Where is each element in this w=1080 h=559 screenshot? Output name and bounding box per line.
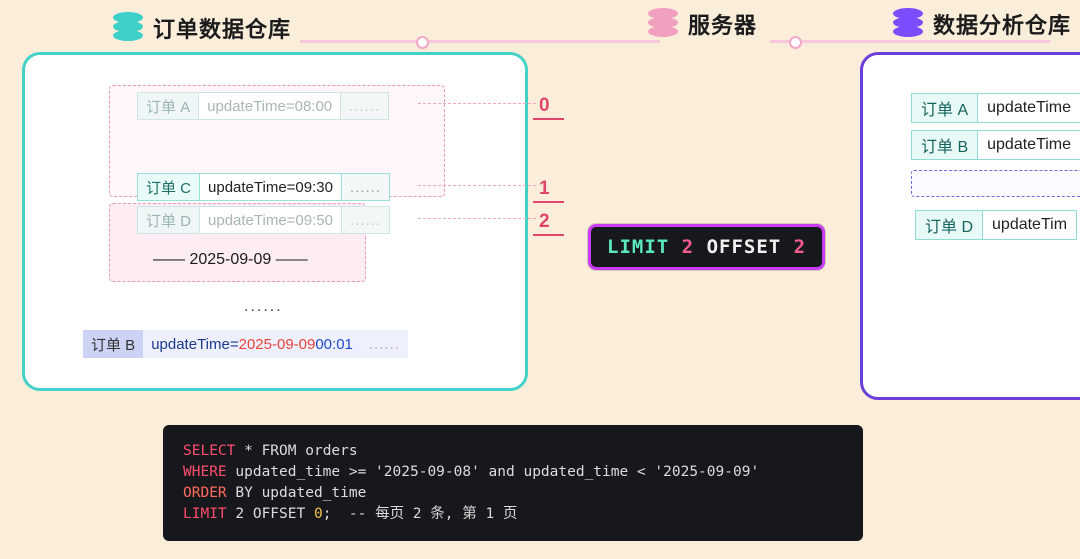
target-row-d-id: 订单 D	[915, 210, 983, 240]
order-row-d-id: 订单 D	[137, 206, 200, 234]
header-analytics-warehouse: 数据分析仓库	[893, 8, 1071, 40]
sql-order-keyword: ORDER	[183, 485, 227, 501]
order-row-b-id: 订单 B	[83, 330, 143, 358]
limit-value: 2	[682, 236, 694, 258]
offset-value: 2	[794, 236, 806, 258]
target-row-a: 订单 A updateTime	[911, 93, 1080, 123]
database-cylinder-icon	[893, 8, 923, 40]
sql-line1-rest: * FROM orders	[235, 443, 357, 459]
order-row-c-dots: ......	[342, 173, 390, 201]
limit-offset-badge: LIMIT 2 OFFSET 2	[588, 224, 825, 270]
sql-where-keyword: WHERE	[183, 464, 227, 480]
header-title-source: 订单数据仓库	[153, 12, 291, 44]
sql-offset-value: 0	[314, 506, 323, 522]
date-separator: —— 2025-09-09 ——	[153, 251, 308, 269]
header-title-server: 服务器	[688, 8, 757, 40]
order-row-a-id: 订单 A	[137, 92, 199, 120]
sql-line3-rest: BY updated_time	[227, 485, 367, 501]
sql-code-block: SELECT * FROM orders WHERE updated_time …	[163, 425, 863, 541]
connector-line-right	[770, 40, 1050, 43]
sql-line4-comment: ; -- 每页 2 条, 第 1 页	[323, 506, 518, 522]
target-row-a-time: updateTime	[978, 93, 1080, 123]
order-row-c: 订单 C updateTime=09:30 ......	[137, 173, 390, 201]
diagram-canvas: 订单数据仓库 服务器 数据分析仓库 订单 A updateTime=08:00 …	[0, 0, 1080, 559]
index-label-0: 0	[539, 95, 550, 117]
target-row-b-id: 订单 B	[911, 130, 978, 160]
header-source-warehouse: 订单数据仓库	[113, 12, 291, 44]
leader-line-1	[418, 185, 536, 186]
database-cylinder-icon	[648, 8, 678, 40]
index-underline-0	[533, 118, 564, 120]
order-row-d: 订单 D updateTime=09:50 ......	[137, 206, 390, 234]
target-row-b-time: updateTime	[978, 130, 1080, 160]
order-row-b-time: updateTime=2025-09-09 00:01	[143, 330, 361, 358]
target-row-d: 订单 D updateTim	[915, 210, 1077, 240]
database-cylinder-icon	[113, 12, 143, 44]
leader-line-0	[418, 103, 536, 104]
target-missing-row-placeholder	[911, 170, 1080, 197]
index-label-1: 1	[539, 178, 550, 200]
order-row-a-dots: ......	[341, 92, 389, 120]
order-row-c-id: 订单 C	[137, 173, 200, 201]
order-row-b: 订单 B updateTime=2025-09-09 00:01 ......	[83, 330, 408, 358]
connector-dot-left	[416, 36, 429, 49]
target-row-d-time: updateTim	[983, 210, 1077, 240]
analytics-warehouse-panel: 订单 A updateTime 订单 B updateTime 订单 D upd…	[860, 52, 1080, 400]
order-row-c-time: updateTime=09:30	[200, 173, 342, 201]
index-label-2: 2	[539, 211, 550, 233]
index-underline-2	[533, 234, 564, 236]
header-title-analytics: 数据分析仓库	[933, 8, 1071, 40]
limit-keyword: LIMIT	[607, 236, 669, 258]
connector-line-left	[300, 40, 660, 43]
order-row-d-time: updateTime=09:50	[200, 206, 342, 234]
index-underline-1	[533, 201, 564, 203]
order-row-d-dots: ......	[342, 206, 390, 234]
offset-keyword: OFFSET	[707, 236, 782, 258]
leader-line-2	[418, 218, 536, 219]
header-server: 服务器	[648, 8, 757, 40]
order-row-a-time: updateTime=08:00	[199, 92, 341, 120]
target-row-b: 订单 B updateTime	[911, 130, 1080, 160]
sql-line4-mid: 2 OFFSET	[227, 506, 314, 522]
rows-ellipsis: ......	[244, 298, 283, 316]
order-row-a: 订单 A updateTime=08:00 ......	[137, 92, 389, 120]
target-row-a-id: 订单 A	[911, 93, 978, 123]
sql-line2-rest: updated_time >= '2025-09-08' and updated…	[227, 464, 760, 480]
sql-select-keyword: SELECT	[183, 443, 235, 459]
sql-limit-keyword: LIMIT	[183, 506, 227, 522]
order-row-b-dots: ......	[361, 330, 408, 358]
connector-dot-right	[789, 36, 802, 49]
